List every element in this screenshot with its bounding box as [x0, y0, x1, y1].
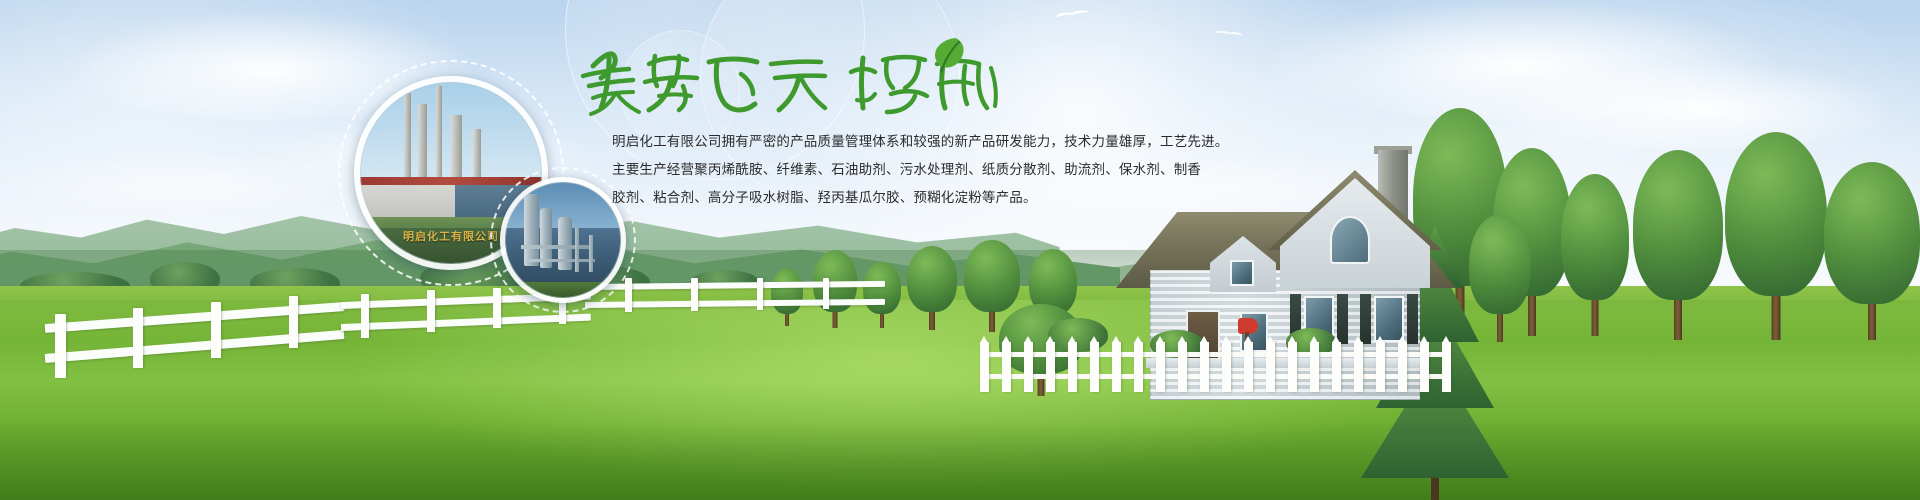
tree-tall — [1824, 160, 1920, 340]
leaf-icon — [925, 32, 971, 78]
company-description: 明启化工有限公司拥有严密的产品质量管理体系和较强的新产品研发能力，技术力量雄厚，… — [612, 128, 1252, 212]
cloud — [1500, 60, 1900, 150]
tree-tall — [1632, 150, 1724, 340]
dormer-window — [1230, 260, 1254, 286]
description-line-1: 明启化工有限公司拥有严密的产品质量管理体系和较强的新产品研发能力，技术力量雄厚，… — [612, 128, 1252, 156]
tree — [906, 246, 958, 330]
hero-banner: 明启化工有限公司 — [0, 0, 1920, 500]
arched-window — [1330, 216, 1370, 264]
medallion-white-ring — [500, 177, 626, 303]
picket-fence — [980, 336, 1450, 392]
grass-foreground-shadow — [0, 420, 1920, 500]
description-line-2: 主要生产经营聚丙烯酰胺、纤维素、石油助剂、污水处理剂、纸质分散剂、助流剂、保水剂… — [612, 156, 1252, 184]
cloud — [0, 150, 380, 214]
tree-tall — [1560, 172, 1630, 336]
description-line-3: 胶剂、粘合剂、高分子吸水树脂、羟丙基瓜尔胶、预糊化淀粉等产品。 — [612, 184, 1252, 212]
tree-tall — [1724, 128, 1828, 340]
rail-fence — [45, 278, 865, 388]
tree — [862, 262, 902, 328]
